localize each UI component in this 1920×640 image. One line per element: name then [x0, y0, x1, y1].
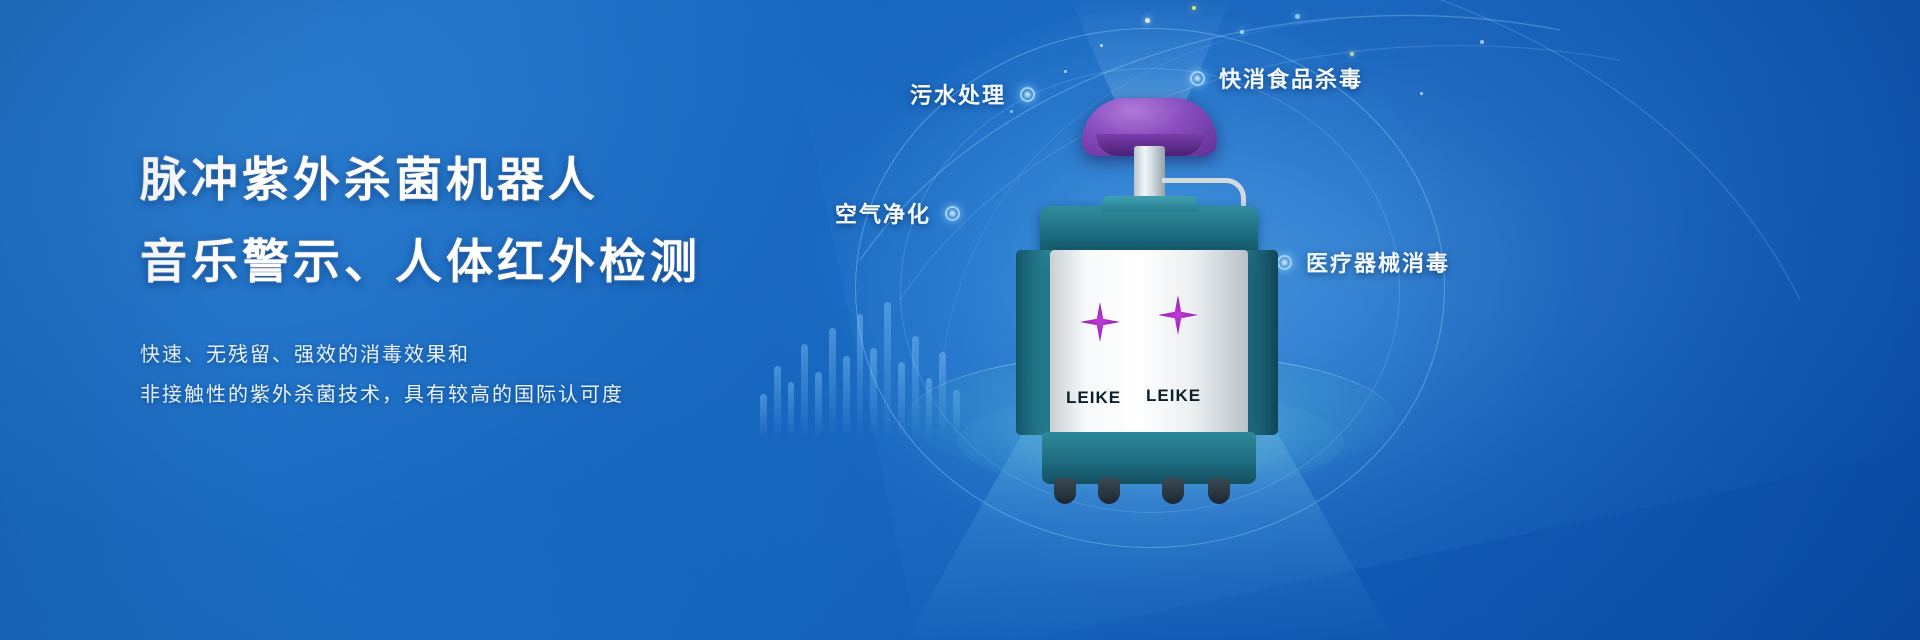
- hero-description: 快速、无残留、强效的消毒效果和 非接触性的紫外杀菌技术，具有较高的国际认可度: [140, 334, 860, 414]
- sparkle-particle: [1420, 92, 1423, 95]
- feature-callout-medical[interactable]: 医疗器械消毒: [1277, 246, 1450, 278]
- chassis-side-rail-right: [1244, 250, 1278, 435]
- page-subtitle: 音乐警示、人体红外检测: [140, 232, 860, 294]
- sparkle-particle: [1064, 70, 1067, 73]
- product-illustration: LEIKE LEIKE: [1020, 90, 1280, 510]
- node-dot-icon: [1190, 71, 1205, 86]
- caster-wheel: [1098, 478, 1120, 504]
- caster-wheel: [1208, 478, 1230, 504]
- sparkle-particle: [1240, 30, 1244, 34]
- hero-banner: 脉冲紫外杀菌机器人 音乐警示、人体红外检测 快速、无残留、强效的消毒效果和 非接…: [0, 0, 1920, 640]
- feature-label: 医疗器械消毒: [1306, 246, 1450, 278]
- chassis-base: [1042, 432, 1256, 484]
- feature-label: 污水处理: [910, 78, 1006, 110]
- feature-label: 空气净化: [835, 197, 931, 229]
- page-title: 脉冲紫外杀菌机器人: [140, 150, 860, 212]
- sparkle-particle: [1100, 44, 1103, 47]
- chassis-side-rail-left: [1016, 250, 1050, 435]
- sparkle-particle: [1480, 40, 1484, 44]
- feature-callout-air[interactable]: 空气净化: [835, 197, 960, 229]
- description-line-2: 非接触性的紫外杀菌技术，具有较高的国际认可度: [140, 374, 860, 414]
- feature-callout-wastewater[interactable]: 污水处理: [910, 78, 1035, 110]
- sparkle-particle: [1295, 14, 1300, 19]
- sparkle-particle: [1192, 6, 1196, 10]
- caster-wheel: [1162, 478, 1184, 504]
- sparkle-particle: [1010, 110, 1013, 113]
- sparkle-particle: [1145, 18, 1150, 23]
- node-dot-icon: [945, 206, 960, 221]
- caster-wheel: [1054, 478, 1076, 504]
- hero-copy: 脉冲紫外杀菌机器人 音乐警示、人体红外检测 快速、无残留、强效的消毒效果和 非接…: [140, 150, 860, 414]
- brand-label-right: LEIKE: [1146, 386, 1201, 406]
- description-line-1: 快速、无残留、强效的消毒效果和: [140, 334, 860, 374]
- chassis-top-cap: [1040, 206, 1258, 254]
- sparkle-particle: [1350, 52, 1354, 56]
- brand-label-left: LEIKE: [1066, 388, 1121, 408]
